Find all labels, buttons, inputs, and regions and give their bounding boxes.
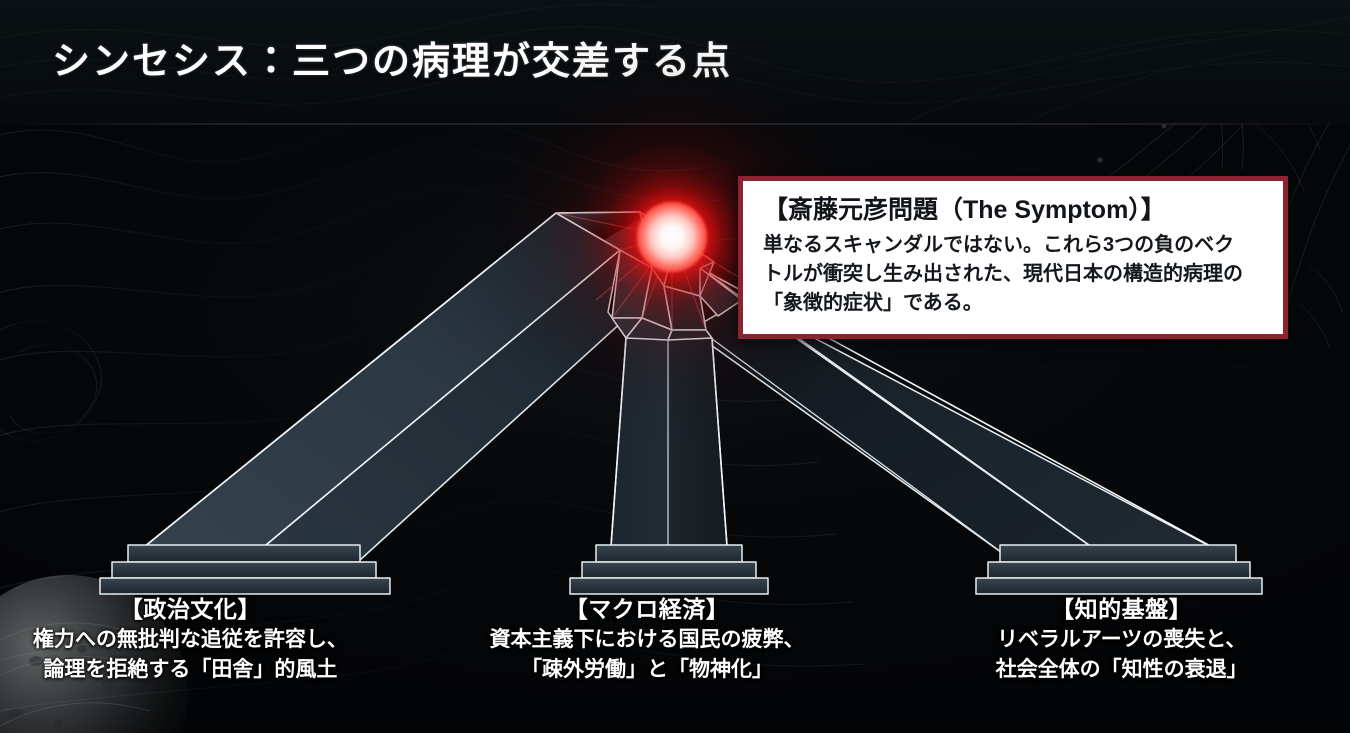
header-divider — [0, 123, 1350, 125]
pillar-line: 「疎外労働」と「物神化」 — [419, 655, 876, 685]
pillar-caption-political-culture: 【政治文化】 権力への無批判な追従を許容し、 論理を拒絶する「田舎」的風土 — [0, 594, 419, 733]
pillar-line: 資本主義下における国民の疲弊、 — [419, 625, 876, 655]
callout-body: 単なるスキャンダルではない。これら3つの負のベク トルが衝突し生み出された、現代… — [763, 231, 1265, 318]
callout-body-line: 「象徴的症状」である。 — [763, 289, 1265, 318]
pillar-heading: 【マクロ経済】 — [419, 594, 876, 625]
callout-title: 【斎藤元彦問題（The Symptom）】 — [763, 195, 1265, 225]
symptom-callout[interactable]: 【斎藤元彦問題（The Symptom）】 単なるスキャンダルではない。これら3… — [738, 176, 1288, 339]
pillar-line: 権力への無批判な追従を許容し、 — [0, 625, 419, 655]
pillar-heading: 【政治文化】 — [0, 594, 419, 625]
pillar-line: 社会全体の「知性の衰退」 — [893, 655, 1350, 685]
pillar-line: 論理を拒絶する「田舎」的風土 — [0, 655, 419, 685]
pillar-line: リベラルアーツの喪失と、 — [893, 625, 1350, 655]
pillar-caption-intellectual-foundation: 【知的基盤】 リベラルアーツの喪失と、 社会全体の「知性の衰退」 — [893, 594, 1350, 733]
pillar-caption-macro-economy: 【マクロ経済】 資本主義下における国民の疲弊、 「疎外労働」と「物神化」 — [419, 594, 876, 733]
pillar-captions: 【政治文化】 権力への無批判な追従を許容し、 論理を拒絶する「田舎」的風土 【マ… — [0, 594, 1350, 733]
callout-body-line: 単なるスキャンダルではない。これら3つの負のベク — [763, 231, 1265, 260]
slide-canvas: シンセシス：三つの病理が交差する点 — [0, 0, 1350, 733]
page-title: シンセシス：三つの病理が交差する点 — [52, 30, 732, 85]
callout-body-line: トルが衝突し生み出された、現代日本の構造的病理の — [763, 260, 1265, 289]
pillar-heading: 【知的基盤】 — [893, 594, 1350, 625]
